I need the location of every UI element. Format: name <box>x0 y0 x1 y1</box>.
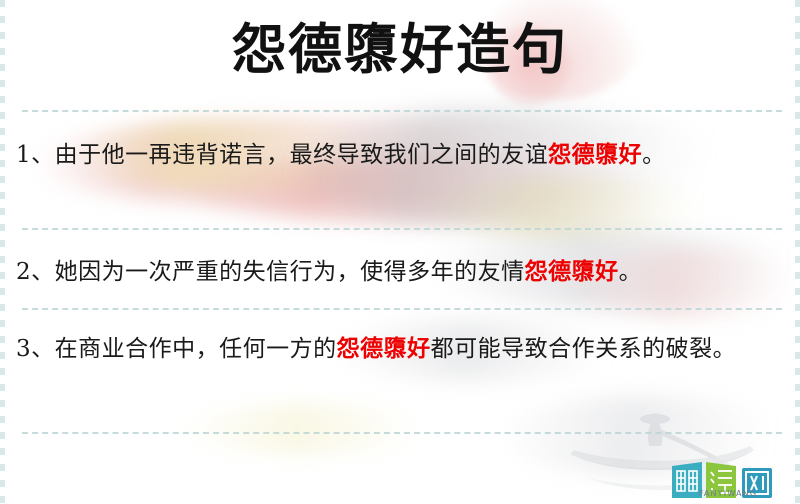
sentence-3-text-after: 都可能导致合作关系的破裂。 <box>431 336 737 362</box>
sentence-1-number: 1、 <box>16 142 55 168</box>
example-sentence-3: 3、在商业合作中，任何一方的怨德隳好都可能导致合作关系的破裂。 <box>16 328 784 370</box>
sentence-3-text-before: 在商业合作中，任何一方的 <box>55 336 337 362</box>
example-sentence-2: 2、她因为一次严重的失信行为，使得多年的友情怨德隳好。 <box>16 251 784 293</box>
sentence-1-text-before: 由于他一再违背诺言，最终导致我们之间的友谊 <box>55 142 549 168</box>
sentence-1-text-after: 。 <box>642 142 666 168</box>
example-sentence-1: 1、由于他一再违背诺言，最终导致我们之间的友谊怨德隳好。 <box>16 134 784 176</box>
sentence-1-keyword: 怨德隳好 <box>548 141 642 168</box>
sentence-2-number: 2、 <box>16 259 55 285</box>
sentence-3-keyword: 怨德隳好 <box>337 335 431 362</box>
logo-caption: FANYIWANG <box>668 489 788 498</box>
page-title: 怨德隳好造句 <box>0 20 800 79</box>
sentence-2-text-after: 。 <box>619 259 643 285</box>
sentence-2-keyword: 怨德隳好 <box>525 258 619 285</box>
sentence-3-number: 3、 <box>16 336 55 362</box>
sentence-2-text-before: 她因为一次严重的失信行为，使得多年的友情 <box>55 259 525 285</box>
document-body: 怨德隳好造句 1、由于他一再违背诺言，最终导致我们之间的友谊怨德隳好。 2、她因… <box>0 0 800 504</box>
